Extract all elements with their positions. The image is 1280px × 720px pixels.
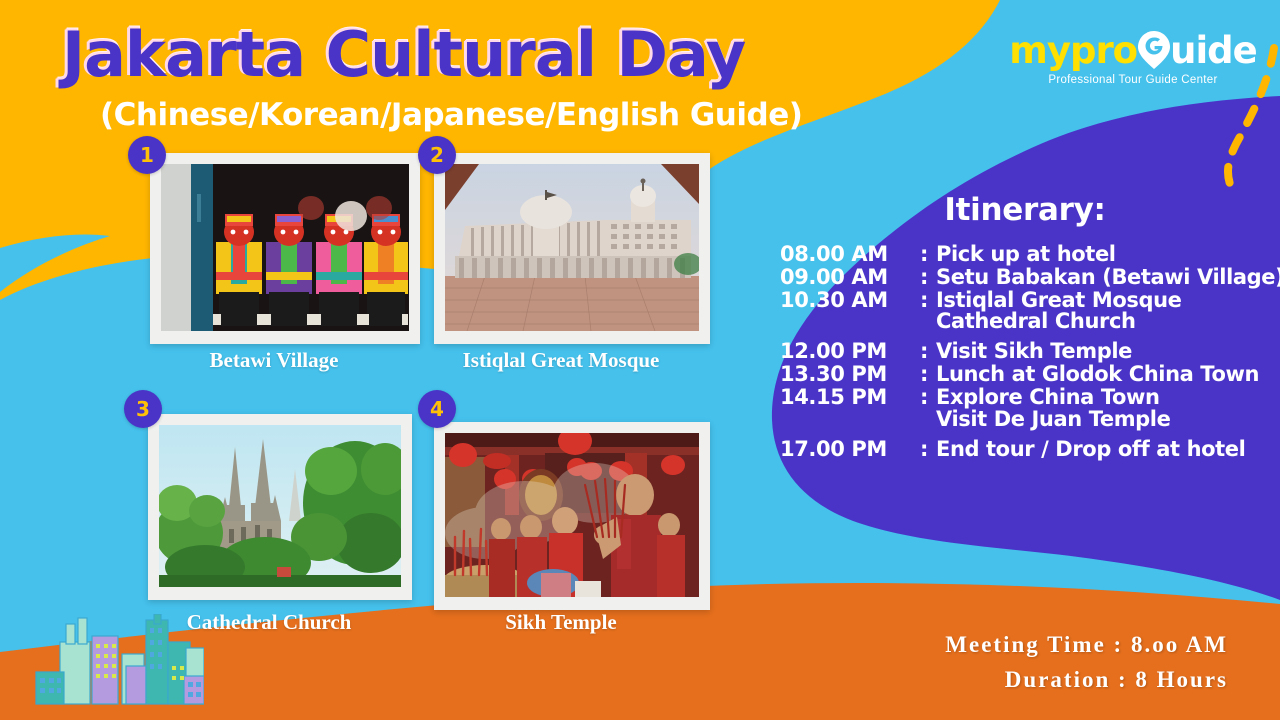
photo-badge-4: 4	[418, 390, 456, 428]
itinerary-row: 13.30 PM : Lunch at Glodok China Town	[780, 364, 1270, 386]
logo-tagline: Professional Tour Guide Center	[1028, 74, 1238, 86]
brand-logo[interactable]: mypro uide Professional Tour Guide Cente…	[1028, 30, 1238, 86]
logo-wordmark: mypro uide	[1028, 30, 1238, 70]
title-block: Jakarta Cultural Day (Chinese/Korean/Jap…	[62, 22, 762, 133]
itinerary-row: 10.30 AM : Istiqlal Great Mosque Cathedr…	[780, 290, 1270, 334]
photo-caption-3: Cathedral Church	[148, 610, 390, 635]
itinerary-desc-group: Explore China Town Visit De Juan Temple	[936, 387, 1170, 431]
itinerary-desc: Istiqlal Great Mosque	[936, 288, 1181, 312]
map-pin-g-icon	[1137, 30, 1171, 70]
itinerary-time: 09.00 AM	[780, 267, 920, 289]
itinerary-desc-group: Istiqlal Great Mosque Cathedral Church	[936, 290, 1181, 334]
photo-caption-2: Istiqlal Great Mosque	[434, 348, 688, 373]
itinerary-separator: :	[920, 290, 936, 312]
itinerary-row: 12.00 PM : Visit Sikh Temple	[780, 341, 1270, 363]
itinerary-time: 08.00 AM	[780, 244, 920, 266]
itinerary-time: 10.30 AM	[780, 290, 920, 312]
itinerary-separator: :	[920, 439, 936, 461]
itinerary-desc-second: Visit De Juan Temple	[936, 409, 1170, 431]
page-title: Jakarta Cultural Day	[62, 22, 762, 87]
itinerary-time: 13.30 PM	[780, 364, 920, 386]
itinerary-separator: :	[920, 364, 936, 386]
photo-istiqlal-mosque	[445, 164, 699, 331]
photo-sikh-temple	[445, 433, 699, 597]
photo-betawi-village	[161, 164, 409, 331]
itinerary-desc: Pick up at hotel	[936, 244, 1116, 266]
photo-card-3[interactable]	[148, 414, 412, 600]
photo-cathedral-church	[159, 425, 401, 587]
itinerary-row: 09.00 AM : Setu Babakan (Betawi Village)	[780, 267, 1270, 289]
itinerary-list: 08.00 AM : Pick up at hotel 09.00 AM : S…	[780, 244, 1270, 460]
photo-badge-1: 1	[128, 136, 166, 174]
poster-canvas: Jakarta Cultural Day (Chinese/Korean/Jap…	[0, 0, 1280, 720]
photo-badge-3: 3	[124, 390, 162, 428]
meeting-info: Meeting Time : 8.oo AM Duration : 8 Hour…	[945, 627, 1228, 698]
photo-card-4[interactable]	[434, 422, 710, 610]
itinerary-separator: :	[920, 267, 936, 289]
itinerary-desc: Visit Sikh Temple	[936, 341, 1132, 363]
meeting-time-text: Meeting Time : 8.oo AM	[945, 627, 1228, 663]
photo-card-2[interactable]	[434, 153, 710, 344]
photo-caption-1: Betawi Village	[150, 348, 398, 373]
itinerary-desc-second: Cathedral Church	[936, 311, 1181, 333]
itinerary-separator: :	[920, 341, 936, 363]
logo-mypro-text: mypro	[1009, 32, 1137, 69]
itinerary-desc: Setu Babakan (Betawi Village)	[936, 267, 1280, 289]
duration-text: Duration : 8 Hours	[945, 662, 1228, 698]
photo-badge-2: 2	[418, 136, 456, 174]
itinerary-time: 14.15 PM	[780, 387, 920, 409]
itinerary-desc: Explore China Town	[936, 385, 1160, 409]
itinerary-separator: :	[920, 387, 936, 409]
itinerary-row: 08.00 AM : Pick up at hotel	[780, 244, 1270, 266]
itinerary-separator: :	[920, 244, 936, 266]
itinerary-heading: Itinerary:	[780, 192, 1270, 228]
itinerary-row: 14.15 PM : Explore China Town Visit De J…	[780, 387, 1270, 431]
itinerary-row: 17.00 PM : End tour / Drop off at hotel	[780, 439, 1270, 461]
itinerary-time: 17.00 PM	[780, 439, 920, 461]
itinerary-desc: Lunch at Glodok China Town	[936, 364, 1259, 386]
itinerary-desc: End tour / Drop off at hotel	[936, 439, 1245, 461]
itinerary-panel: Itinerary: 08.00 AM : Pick up at hotel 0…	[780, 192, 1270, 461]
photo-caption-4: Sikh Temple	[434, 610, 688, 635]
logo-guide-text: uide	[1170, 32, 1257, 69]
itinerary-time: 12.00 PM	[780, 341, 920, 363]
page-subtitle: (Chinese/Korean/Japanese/English Guide)	[100, 97, 762, 133]
photo-card-1[interactable]	[150, 153, 420, 344]
